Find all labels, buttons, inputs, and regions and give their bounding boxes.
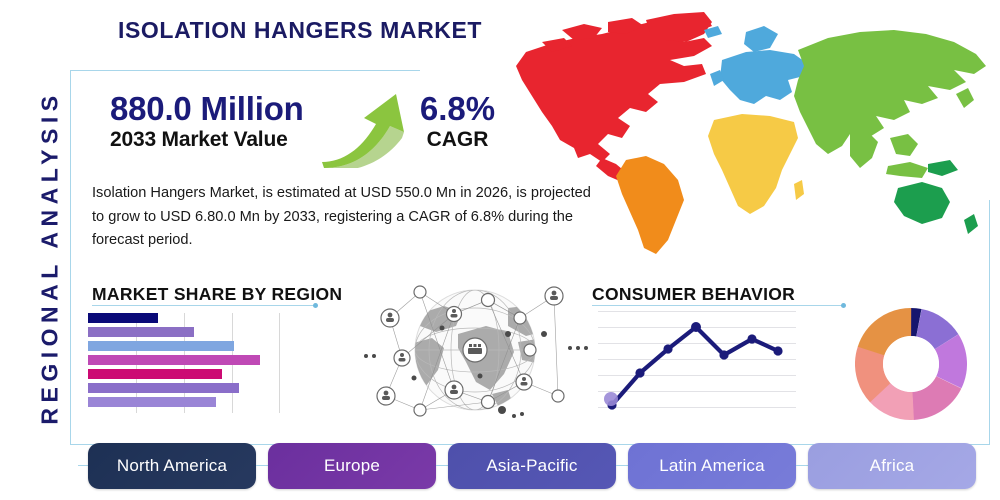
region-pill-latin-america[interactable]: Latin America [628, 443, 796, 489]
bar-chart-market-share [88, 313, 280, 413]
map-region-asia [794, 30, 986, 154]
cagr-value: 6.8% [405, 92, 510, 125]
map-india [850, 132, 878, 168]
bar-series-6 [88, 383, 239, 393]
region-pill-europe[interactable]: Europe [268, 443, 436, 489]
map-region-oceania [894, 182, 950, 224]
map-japan [956, 88, 974, 108]
bar-series-7 [88, 397, 216, 407]
summary-text: Isolation Hangers Market, is estimated a… [92, 182, 602, 253]
global-network-globe [358, 278, 593, 423]
donut-chart-regional [855, 308, 967, 420]
bar-series-3 [88, 341, 234, 351]
map-madagascar [794, 180, 804, 200]
line-series-markers [607, 322, 782, 410]
bar-series-1 [88, 313, 158, 323]
region-pill-label: Latin America [659, 456, 765, 476]
map-new-guinea [928, 160, 958, 176]
section-heading-consumer-behavior: CONSUMER BEHAVIOR [592, 284, 795, 305]
map-new-zealand [964, 214, 978, 234]
kpi-label: 2033 Market Value [110, 128, 304, 151]
region-pill-africa[interactable]: Africa [808, 443, 976, 489]
map-region-africa [708, 114, 798, 214]
line-chart-consumer-behavior [598, 305, 796, 415]
region-pill-bar: North America Europe Asia-Pacific Latin … [78, 443, 990, 491]
map-indonesia [886, 162, 928, 178]
region-pill-asia-pacific[interactable]: Asia-Pacific [448, 443, 616, 489]
region-pill-label: Asia-Pacific [486, 456, 577, 476]
kpi-value: 880.0 Million [110, 92, 304, 125]
bar-series-4 [88, 355, 260, 365]
region-pill-label: Africa [870, 456, 915, 476]
kpi-cagr: 6.8% CAGR [405, 92, 510, 152]
map-southeast-asia [890, 134, 918, 156]
section-rule-market-share [92, 305, 314, 306]
region-pill-label: North America [117, 456, 227, 476]
map-region-south-america [616, 156, 684, 254]
growth-arrow-icon [318, 88, 410, 168]
cagr-label: CAGR [405, 128, 510, 152]
page-title: ISOLATION HANGERS MARKET [118, 17, 482, 44]
region-pill-label: Europe [324, 456, 380, 476]
line-first-marker [604, 392, 618, 406]
region-pill-north-america[interactable]: North America [88, 443, 256, 489]
bar-series-2 [88, 327, 194, 337]
kpi-market-value: 880.0 Million 2033 Market Value [110, 92, 304, 151]
bar-series-5 [88, 369, 222, 379]
side-label-regional-analysis: REGIONAL ANALYSIS [37, 58, 64, 458]
map-scandinavia [744, 26, 778, 52]
infographic-root: ISOLATION HANGERS MARKET REGIONAL ANALYS… [0, 0, 1000, 500]
section-heading-market-share: MARKET SHARE BY REGION [92, 284, 342, 305]
